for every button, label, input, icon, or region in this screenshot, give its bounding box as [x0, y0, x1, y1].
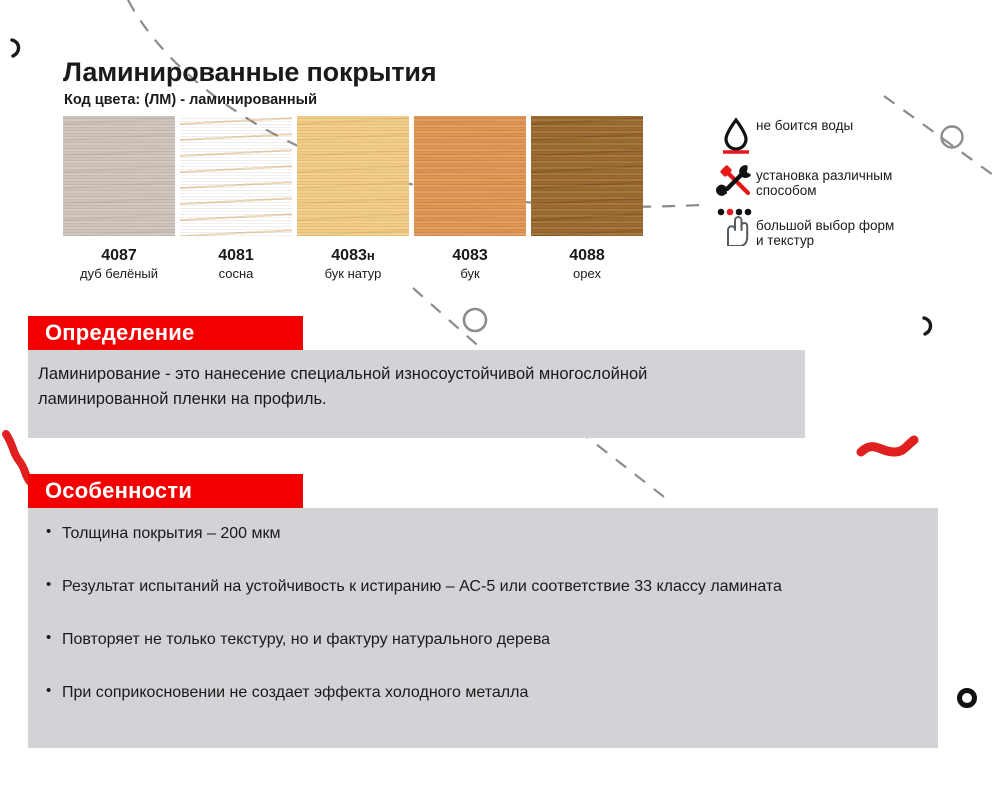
swatch-caption: 4081сосна: [180, 247, 292, 282]
pointing-hand-dots-icon: [716, 206, 756, 244]
swatch-code: 4088: [531, 247, 643, 265]
feature-list-item: При соприкосновении не создает эффекта х…: [46, 681, 926, 705]
feature-item-water: не боится воды: [716, 114, 894, 152]
feature-label-install: установка различным способом: [756, 160, 892, 198]
swatch-code-suffix: н: [367, 248, 375, 263]
decor-ring-bottom-right: [960, 691, 975, 706]
features-tag: Особенности: [28, 474, 303, 508]
swatch-code: 4081: [180, 247, 292, 265]
swatch-name: дуб белёный: [63, 266, 175, 282]
swatch-caption: 4083бук: [414, 247, 526, 282]
water-drop-icon: [716, 114, 756, 152]
feature-icons-list: не боится воды установка различным спосо…: [716, 114, 894, 256]
swatch-chip: [414, 116, 526, 236]
page-subtitle: Код цвета: (ЛМ) - ламинированный: [64, 92, 317, 108]
swatch-name: бук: [414, 266, 526, 282]
swatch-caption: 4087дуб белёный: [63, 247, 175, 282]
dashed-line-right-top: [884, 96, 1000, 180]
definition-body: Ламинирование - это нанесение специально…: [38, 362, 728, 412]
swatch-chip: [297, 116, 409, 236]
swatch-chip: [63, 116, 175, 236]
comma-mark-top-left: [12, 40, 19, 56]
swatch-walnut: 4088орех: [531, 116, 648, 282]
swatch-code: 4083: [414, 247, 526, 265]
wood-grain-texture: [63, 116, 175, 236]
features-body: Толщина покрытия – 200 мкмРезультат испы…: [46, 522, 926, 734]
swatch-beech-natur: 4083нбук натур: [297, 116, 414, 282]
definition-text: Ламинирование - это нанесение специально…: [38, 362, 728, 412]
definition-tag: Определение: [28, 316, 303, 350]
feature-list-item: Результат испытаний на устойчивость к ис…: [46, 575, 926, 599]
features-list: Толщина покрытия – 200 мкмРезультат испы…: [46, 522, 926, 705]
feature-list-item: Повторяет не только текстуру, но и факту…: [46, 628, 926, 652]
wood-grain-texture: [531, 116, 643, 236]
color-swatch-row: 4087дуб белёный4081сосна4083нбук натур40…: [63, 116, 648, 282]
swatch-caption: 4088орех: [531, 247, 643, 282]
decor-circle-right-top: [942, 127, 963, 148]
swatch-chip: [531, 116, 643, 236]
comma-mark-right-middle: [924, 318, 931, 334]
feature-label-variety: большой выбор форм и текстур: [756, 206, 894, 248]
swatch-code: 4087: [63, 247, 175, 265]
decor-circle-middle: [464, 309, 486, 331]
swatch-name: бук натур: [297, 266, 409, 282]
crossed-tools-icon: [716, 160, 756, 198]
wood-grain-texture: [297, 116, 409, 236]
feature-list-item: Толщина покрытия – 200 мкм: [46, 522, 926, 546]
feature-label-water: не боится воды: [756, 114, 853, 133]
feature-item-variety: большой выбор форм и текстур: [716, 206, 894, 248]
red-squiggle-left: [6, 434, 30, 482]
swatch-pine: 4081сосна: [180, 116, 297, 282]
swatch-name: сосна: [180, 266, 292, 282]
swatch-beech: 4083бук: [414, 116, 531, 282]
swatch-code: 4083н: [297, 247, 409, 265]
swatch-caption: 4083нбук натур: [297, 247, 409, 282]
page-title: Ламинированные покрытия: [63, 57, 436, 88]
swatch-chip: [180, 116, 292, 236]
wood-grain-texture: [180, 116, 292, 236]
swatch-name: орех: [531, 266, 643, 282]
feature-item-install: установка различным способом: [716, 160, 894, 198]
wood-grain-texture: [414, 116, 526, 236]
dashed-line-lower: [578, 430, 668, 500]
red-squiggle-right: [861, 440, 914, 452]
swatch-oak-white: 4087дуб белёный: [63, 116, 180, 282]
